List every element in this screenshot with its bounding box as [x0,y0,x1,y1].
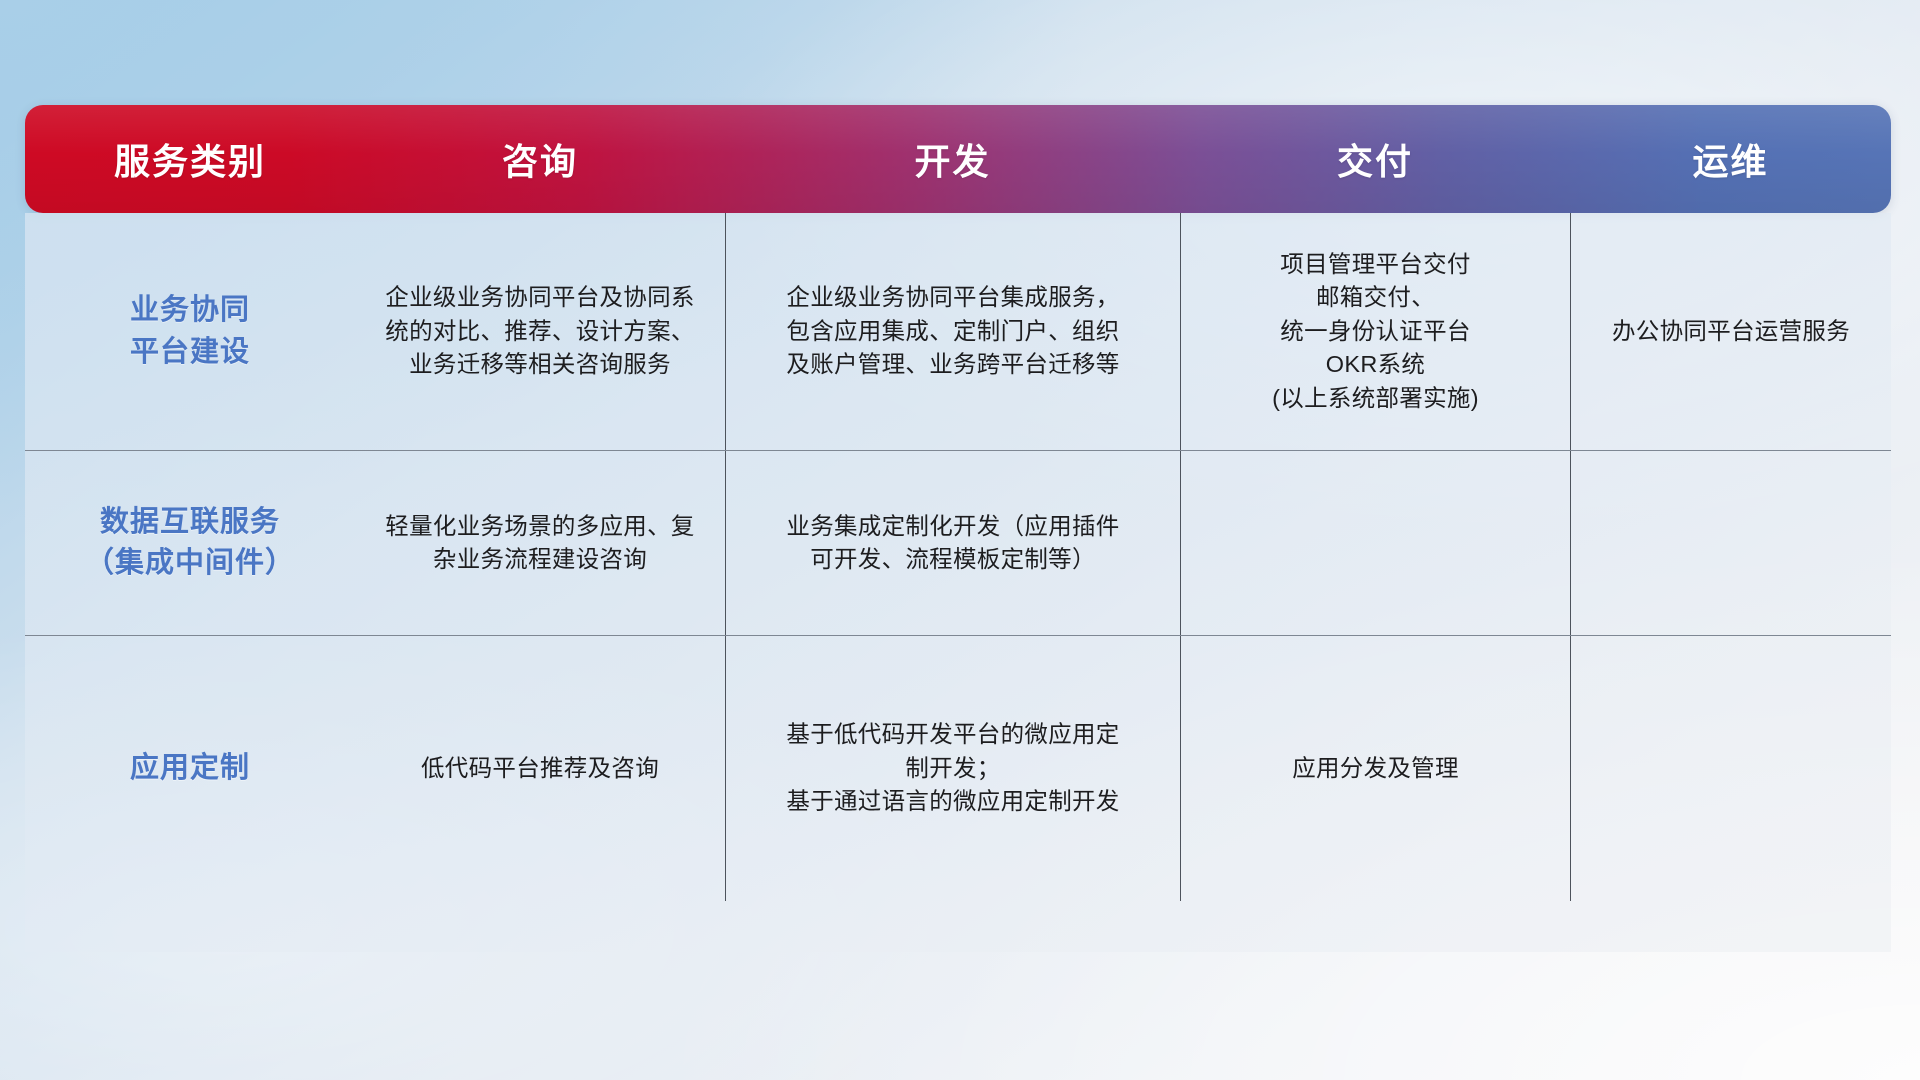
cell-row2-operations [1570,451,1891,635]
service-matrix-table: 服务类别 咨询 开发 交付 运维 业务协同 平台建设 企业级业务协同平台及协同系… [25,105,1891,952]
table-row: 业务协同 平台建设 企业级业务协同平台及协同系 统的对比、推荐、设计方案、 业务… [25,213,1891,450]
column-header-service-category: 服务类别 [25,133,355,185]
table-row: 数据互联服务 （集成中间件） 轻量化业务场景的多应用、复 杂业务流程建设咨询 业… [25,450,1891,635]
table-body: 业务协同 平台建设 企业级业务协同平台及协同系 统的对比、推荐、设计方案、 业务… [25,213,1891,952]
table-row: 应用定制 低代码平台推荐及咨询 基于低代码开发平台的微应用定 制开发； 基于通过… [25,635,1891,901]
cell-row1-consulting: 企业级业务协同平台及协同系 统的对比、推荐、设计方案、 业务迁移等相关咨询服务 [355,213,725,450]
cell-row1-delivery: 项目管理平台交付 邮箱交付、 统一身份认证平台 OKR系统 (以上系统部署实施) [1180,213,1570,450]
column-header-operations: 运维 [1570,133,1891,185]
row-label-business-collaboration-platform: 业务协同 平台建设 [25,213,355,450]
cell-row2-development: 业务集成定制化开发（应用插件 可开发、流程模板定制等） [725,451,1180,635]
cell-row3-development: 基于低代码开发平台的微应用定 制开发； 基于通过语言的微应用定制开发 [725,636,1180,901]
cell-row3-delivery: 应用分发及管理 [1180,636,1570,901]
cell-row1-operations: 办公协同平台运营服务 [1570,213,1891,450]
cell-row1-development: 企业级业务协同平台集成服务， 包含应用集成、定制门户、组织 及账户管理、业务跨平… [725,213,1180,450]
column-header-delivery: 交付 [1180,133,1570,185]
table-header-row: 服务类别 咨询 开发 交付 运维 [25,105,1891,213]
column-header-development: 开发 [725,133,1180,185]
row-label-application-customization: 应用定制 [25,636,355,901]
column-header-consulting: 咨询 [355,133,725,185]
cell-row3-consulting: 低代码平台推荐及咨询 [355,636,725,901]
cell-row3-operations [1570,636,1891,901]
cell-row2-delivery [1180,451,1570,635]
cell-row2-consulting: 轻量化业务场景的多应用、复 杂业务流程建设咨询 [355,451,725,635]
row-label-data-interconnection-service: 数据互联服务 （集成中间件） [25,451,355,635]
